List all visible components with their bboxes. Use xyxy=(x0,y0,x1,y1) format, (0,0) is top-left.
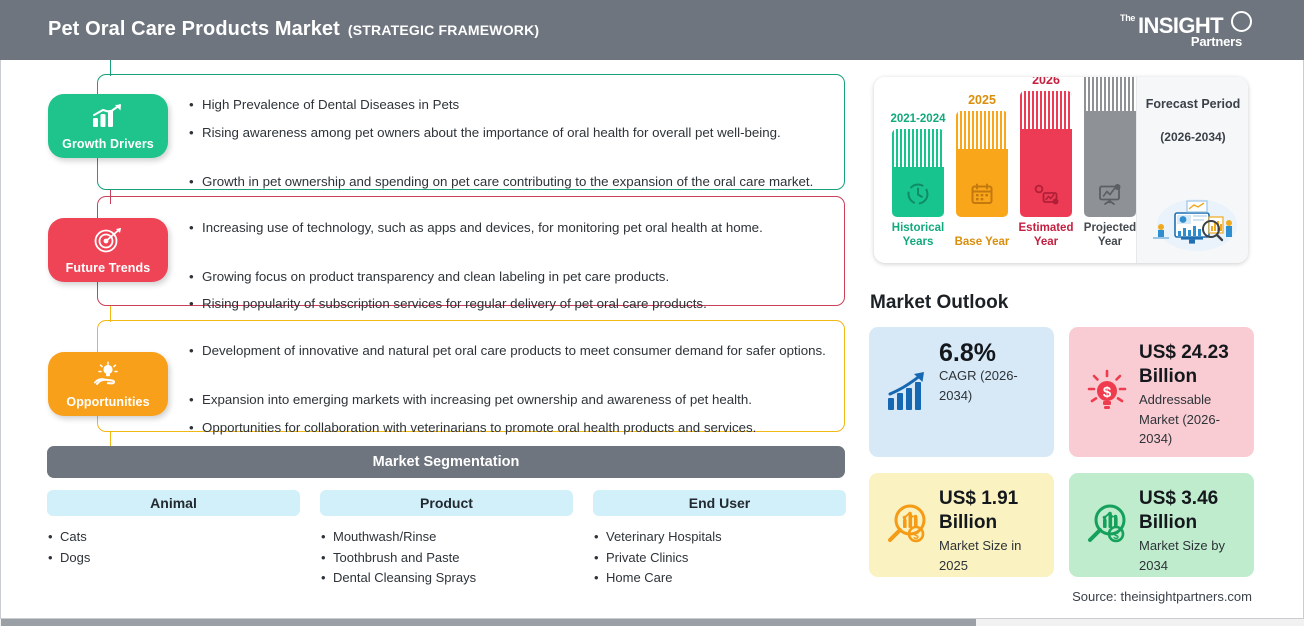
segmentation-item: Veterinary Hospitals xyxy=(606,529,722,544)
chart-bar-year: 2026 xyxy=(1012,77,1080,87)
list-item: • Opportunities for collaboration with v… xyxy=(189,418,789,439)
bullet-text: Expansion into emerging markets with inc… xyxy=(189,390,837,411)
segmentation-column-title: Product xyxy=(320,490,573,516)
page-title: Pet Oral Care Products Market(STRATEGIC … xyxy=(48,18,539,41)
bullet-dot: • xyxy=(189,390,194,411)
chart-bar xyxy=(1084,77,1136,217)
list-item: •Private Clinics xyxy=(593,548,846,569)
bullet-dot: • xyxy=(594,527,599,548)
target-icon xyxy=(48,227,168,253)
list-item: •Cats xyxy=(47,527,300,548)
chart-bar xyxy=(1020,91,1072,217)
page-header: Pet Oral Care Products Market(STRATEGIC … xyxy=(0,0,1304,60)
estimate-chart-icon xyxy=(1020,181,1072,211)
segmentation-item: Private Clinics xyxy=(606,550,688,565)
bullet-dot: • xyxy=(189,267,194,288)
segmentation-column-header: End User xyxy=(593,490,846,516)
bullet-text: Development of innovative and natural pe… xyxy=(189,341,829,362)
list-item: •Dogs xyxy=(47,548,300,569)
forecast-period-title: Forecast Period xyxy=(1137,96,1248,112)
calendar-icon xyxy=(956,181,1008,211)
chart-bar-year: 2021-2024 xyxy=(880,113,956,125)
bar-stripe-pattern xyxy=(1020,91,1072,129)
bar-stripe-pattern xyxy=(956,111,1008,149)
forecast-bars-area: 2021-2024 Historical Years 2025 xyxy=(874,77,1136,263)
outlook-card-body: 6.8% CAGR (2026-2034) xyxy=(939,341,1042,405)
bullet-text: High Prevalence of Dental Diseases in Pe… xyxy=(189,95,824,116)
segmentation-column-title: Animal xyxy=(47,490,300,516)
page-subtitle: (STRATEGIC FRAMEWORK) xyxy=(348,22,539,38)
projection-screen-icon xyxy=(1084,181,1136,211)
lightbulb-dollar-icon: $ xyxy=(1083,368,1131,416)
hand-lightbulb-icon xyxy=(48,361,168,387)
list-item: •Dental Cleansing Sprays xyxy=(320,568,573,589)
segmentation-item-list: •Veterinary Hospitals •Private Clinics •… xyxy=(593,527,846,589)
pillar-badge-opportunities[interactable]: Opportunities xyxy=(48,352,168,416)
list-item: • Rising awareness among pet owners abou… xyxy=(189,123,829,144)
svg-text:$: $ xyxy=(1113,531,1119,542)
segmentation-item: Home Care xyxy=(606,570,672,585)
outlook-card-label: Market Size in 2025 xyxy=(939,536,1042,575)
segmentation-column-product: Product •Mouthwash/Rinse •Toothbrush and… xyxy=(320,490,573,589)
segmentation-item: Toothbrush and Paste xyxy=(333,550,459,565)
chart-bar xyxy=(956,111,1008,217)
outlook-card-label: CAGR (2026-2034) xyxy=(939,366,1042,405)
infographic-page: Pet Oral Care Products Market(STRATEGIC … xyxy=(0,0,1304,626)
list-item: •Home Care xyxy=(593,568,846,589)
segmentation-column-end-user: End User •Veterinary Hospitals •Private … xyxy=(593,490,846,589)
outlook-card-value: US$ 1.91 Billion xyxy=(939,487,1042,535)
bar-stripe-pattern xyxy=(892,129,944,167)
segmentation-column-header: Animal xyxy=(47,490,300,516)
bar-chart-arrow-icon xyxy=(48,103,168,129)
bullet-dot: • xyxy=(48,548,53,569)
logo-partners: Partners xyxy=(1191,34,1242,49)
bullet-dot: • xyxy=(321,568,326,589)
outlook-card-value: US$ 3.46 Billion xyxy=(1139,487,1242,535)
outlook-card-body: US$ 3.46 Billion Market Size by 2034 xyxy=(1139,487,1242,575)
bullet-text: Growth in pet ownership and spending on … xyxy=(189,172,814,193)
market-outlook-title: Market Outlook xyxy=(870,292,1008,314)
source-attribution: Source: theinsightpartners.com xyxy=(1072,589,1252,604)
segmentation-column-animal: Animal •Cats •Dogs xyxy=(47,490,300,568)
bullet-text: Growing focus on product transparency an… xyxy=(189,267,829,288)
list-item: • Growth in pet ownership and spending o… xyxy=(189,172,814,193)
list-item: • High Prevalence of Dental Diseases in … xyxy=(189,95,824,116)
list-item: •Toothbrush and Paste xyxy=(320,548,573,569)
svg-text:$: $ xyxy=(913,531,919,542)
forecast-period-chart: 2021-2024 Historical Years 2025 xyxy=(874,77,1248,263)
segmentation-item: Dogs xyxy=(60,550,90,565)
bullet-dot: • xyxy=(189,172,194,193)
insight-partners-logo: The INSIGHT Partners xyxy=(1120,11,1252,49)
segmentation-item-list: •Cats •Dogs xyxy=(47,527,300,568)
pillar-box-future-trends xyxy=(97,196,845,306)
list-item: • Increasing use of technology, such as … xyxy=(189,218,804,239)
bullet-dot: • xyxy=(189,341,194,362)
bullet-text: Opportunities for collaboration with vet… xyxy=(189,418,789,439)
bullet-dot: • xyxy=(594,568,599,589)
outlook-card-market-size-2025[interactable]: $ US$ 1.91 Billion Market Size in 2025 xyxy=(869,473,1054,577)
bullet-dot: • xyxy=(48,527,53,548)
market-segmentation-title: Market Segmentation xyxy=(47,446,845,478)
list-item: • Development of innovative and natural … xyxy=(189,341,829,362)
bullet-dot: • xyxy=(321,548,326,569)
analytics-dashboard-illustration xyxy=(1145,191,1241,253)
chart-bar-caption: Historical Years xyxy=(882,221,954,249)
pillar-badge-label: Future Trends xyxy=(48,261,168,275)
svg-text:$: $ xyxy=(1103,384,1112,401)
growth-chart-icon xyxy=(883,368,931,416)
bar-stripe-pattern xyxy=(1084,77,1136,111)
pillar-badge-growth-drivers[interactable]: Growth Drivers xyxy=(48,94,168,158)
outlook-card-body: US$ 24.23 Billion Addressable Market (20… xyxy=(1139,341,1242,449)
magnifier-chart-icon: $ xyxy=(1083,501,1131,549)
connector-growth-top xyxy=(110,60,111,76)
bullet-dot: • xyxy=(189,294,194,315)
chart-bar-caption: Estimated Year xyxy=(1010,221,1082,249)
bullet-dot: • xyxy=(189,418,194,439)
pillar-badge-future-trends[interactable]: Future Trends xyxy=(48,218,168,282)
outlook-card-cagr[interactable]: 6.8% CAGR (2026-2034) xyxy=(869,327,1054,457)
bullet-dot: • xyxy=(594,548,599,569)
outlook-card-body: US$ 1.91 Billion Market Size in 2025 xyxy=(939,487,1042,575)
outlook-card-label: Addressable Market (2026-2034) xyxy=(1139,390,1242,449)
chart-bar-caption: Base Year xyxy=(946,235,1018,249)
bullet-text: Rising awareness among pet owners about … xyxy=(189,123,829,144)
chart-bar-year: 2025 xyxy=(948,93,1016,107)
segmentation-column-title: End User xyxy=(593,490,846,516)
segmentation-item-list: •Mouthwash/Rinse •Toothbrush and Paste •… xyxy=(320,527,573,589)
bullet-dot: • xyxy=(321,527,326,548)
forecast-period-annotation: Forecast Period (2026-2034) xyxy=(1136,77,1248,263)
clock-history-icon xyxy=(892,181,944,211)
chart-bar xyxy=(892,129,944,217)
outlook-card-value: 6.8% xyxy=(939,341,1042,365)
outlook-card-value: US$ 24.23 Billion xyxy=(1139,341,1242,389)
pillar-badge-label: Growth Drivers xyxy=(48,137,168,151)
logo-the: The xyxy=(1120,14,1135,22)
market-segmentation-header: Market Segmentation xyxy=(47,446,845,478)
list-item: • Expansion into emerging markets with i… xyxy=(189,390,837,411)
logo-ring-icon xyxy=(1231,11,1252,32)
list-item: • Rising popularity of subscription serv… xyxy=(189,294,834,315)
segmentation-item: Cats xyxy=(60,529,87,544)
segmentation-item: Mouthwash/Rinse xyxy=(333,529,436,544)
connector-opportunities-top xyxy=(110,306,111,322)
bullet-text: Rising popularity of subscription servic… xyxy=(189,294,834,315)
outlook-card-market-size-2034[interactable]: $ US$ 3.46 Billion Market Size by 2034 xyxy=(1069,473,1254,577)
list-item: • Growing focus on product transparency … xyxy=(189,267,829,288)
bullet-dot: • xyxy=(189,95,194,116)
forecast-period-years: (2026-2034) xyxy=(1137,130,1248,144)
segmentation-item: Dental Cleansing Sprays xyxy=(333,570,476,585)
pillar-badge-label: Opportunities xyxy=(48,395,168,409)
list-item: •Mouthwash/Rinse xyxy=(320,527,573,548)
bullet-dot: • xyxy=(189,123,194,144)
list-item: •Veterinary Hospitals xyxy=(593,527,846,548)
connector-trends-top xyxy=(110,190,111,204)
bullet-dot: • xyxy=(189,218,194,239)
bullet-text: Increasing use of technology, such as ap… xyxy=(189,218,804,239)
magnifier-chart-icon: $ xyxy=(883,501,931,549)
horizontal-scrollbar-thumb[interactable] xyxy=(1,619,976,626)
outlook-card-addressable-market[interactable]: $ US$ 24.23 Billion Addressable Market (… xyxy=(1069,327,1254,457)
segmentation-column-header: Product xyxy=(320,490,573,516)
page-title-text: Pet Oral Care Products Market xyxy=(48,18,340,40)
pillar-box-opportunities xyxy=(97,320,845,432)
outlook-card-label: Market Size by 2034 xyxy=(1139,536,1242,575)
